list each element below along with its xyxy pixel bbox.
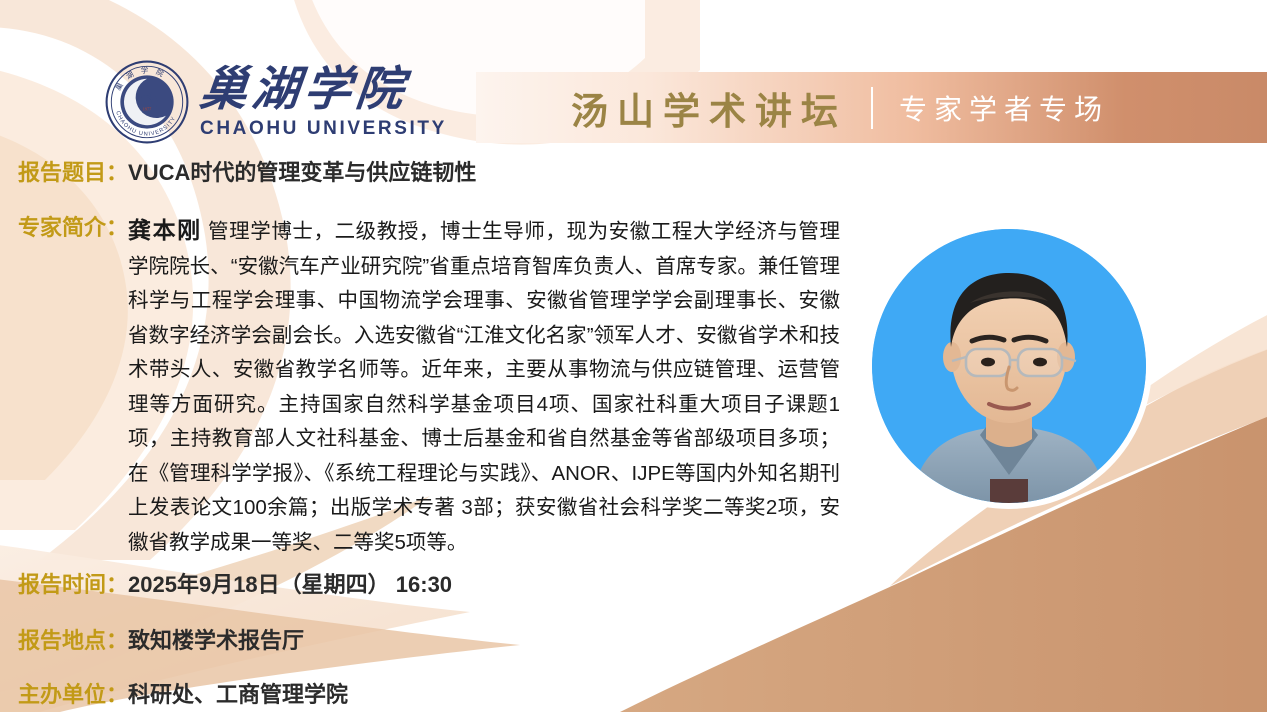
report-title-value: VUCA时代的管理变革与供应链韧性 (128, 158, 476, 188)
report-place-value: 致知楼学术报告厅 (128, 626, 304, 656)
university-name-en: CHAOHU UNIVERSITY (200, 119, 447, 138)
speaker-bio-label: 专家简介： (18, 213, 128, 243)
report-host-label: 主办单位： (18, 680, 128, 710)
speaker-bio-paragraph: 管理学博士，二级教授，博士生导师，现为安徽工程大学经济与管理学院院长、“安徽汽车… (128, 220, 840, 554)
report-place-row: 报告地点： 致知楼学术报告厅 (18, 626, 304, 656)
report-title-row: 报告题目： VUCA时代的管理变革与供应链韧性 (18, 158, 476, 188)
svg-text:1977: 1977 (143, 107, 152, 112)
portrait-illustration (872, 229, 1146, 503)
speaker-bio-row: 专家简介： 龚本刚 管理学博士，二级教授，博士生导师，现为安徽工程大学经济与管理… (18, 213, 886, 560)
speaker-portrait-photo (872, 229, 1146, 503)
banner-main-title: 汤山学术讲坛 (571, 81, 847, 135)
banner-sub-title: 专家学者专场 (899, 88, 1109, 128)
report-time-label: 报告时间： (18, 570, 128, 600)
report-title-label: 报告题目： (18, 158, 128, 188)
speaker-bio-text: 龚本刚 管理学博士，二级教授，博士生导师，现为安徽工程大学经济与管理学院院长、“… (128, 213, 840, 560)
report-time-row: 报告时间： 2025年9月18日（星期四） 16:30 (18, 570, 452, 600)
report-place-label: 报告地点： (18, 626, 128, 656)
report-time-value: 2025年9月18日（星期四） 16:30 (128, 570, 452, 600)
university-name-cn: 巢湖学院 (198, 67, 450, 114)
speaker-name: 龚本刚 (128, 217, 202, 243)
report-host-value: 科研处、工商管理学院 (128, 680, 348, 710)
banner-divider (871, 87, 873, 129)
report-host-row: 主办单位： 科研处、工商管理学院 (18, 680, 348, 710)
university-logo-block: 1977 巢 湖 学 院 CHAOHU UNIVERSITY 巢湖学院 CHAO… (104, 56, 464, 148)
lecture-series-banner: 汤山学术讲坛 专家学者专场 (476, 72, 1267, 143)
chaohu-university-seal-icon: 1977 巢 湖 学 院 CHAOHU UNIVERSITY (104, 59, 190, 145)
poster-header: 1977 巢 湖 学 院 CHAOHU UNIVERSITY 巢湖学院 CHAO… (0, 0, 1267, 150)
poster-root: 1977 巢 湖 学 院 CHAOHU UNIVERSITY 巢湖学院 CHAO… (0, 0, 1267, 712)
university-wordmark: 巢湖学院 CHAOHU UNIVERSITY (200, 67, 447, 138)
